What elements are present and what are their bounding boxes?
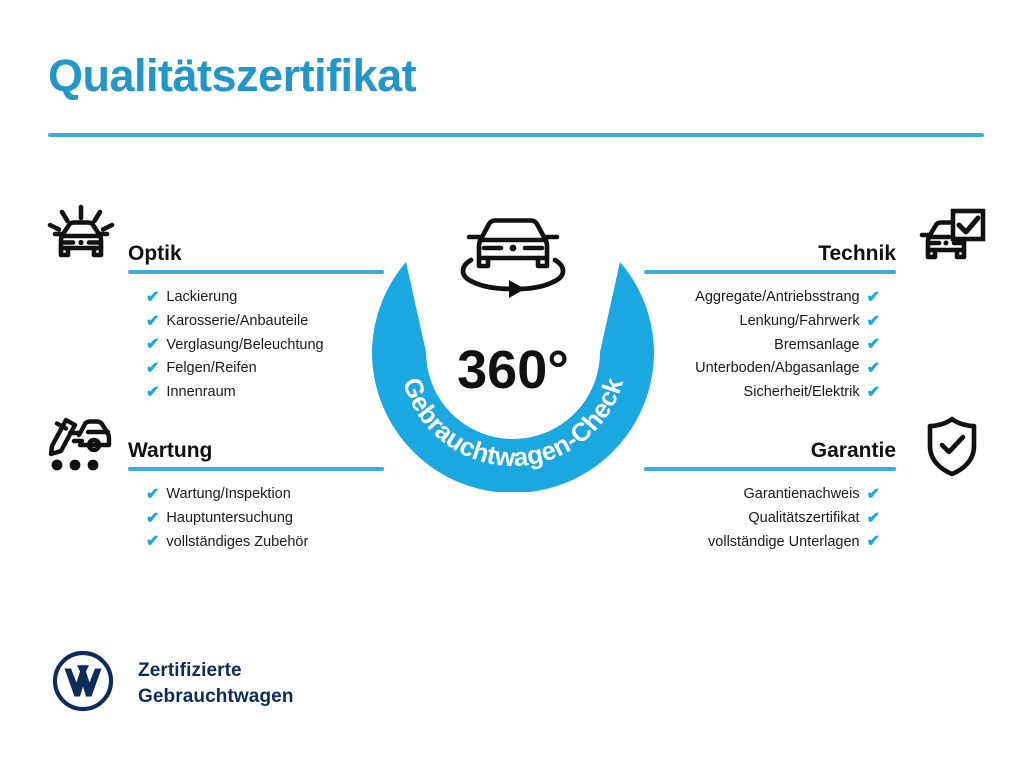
list-item-label: Unterboden/Abgasanlage — [695, 357, 859, 381]
section-header: Garantie — [644, 429, 896, 471]
section-divider — [644, 270, 896, 274]
list-item-label: vollständige Unterlagen — [708, 531, 860, 555]
list-item: ✔Hauptuntersuchung — [128, 507, 384, 531]
list-item-label: Verglasung/Beleuchtung — [166, 334, 323, 358]
check-icon: ✔ — [146, 337, 159, 353]
checklist-wartung: ✔Wartung/Inspektion ✔Hauptuntersuchung ✔… — [128, 483, 384, 554]
checklist-technik: Aggregate/Antriebsstrang✔ Lenkung/Fahrwe… — [644, 286, 896, 405]
check-icon: ✔ — [146, 314, 159, 330]
section-header: Wartung — [128, 429, 384, 471]
certificate-page: Qualitätszertifikat — [0, 0, 1024, 768]
section-title-garantie: Garantie — [811, 439, 896, 463]
list-item: Lenkung/Fahrwerk✔ — [644, 310, 896, 334]
check-icon: ✔ — [867, 290, 880, 306]
list-item: Bremsanlage✔ — [644, 334, 896, 358]
list-item-label: Karosserie/Anbauteile — [166, 310, 308, 334]
list-item-label: Bremsanlage — [774, 334, 859, 358]
check-icon: ✔ — [867, 487, 880, 503]
footer-text: Zertifizierte Gebrauchtwagen — [138, 658, 294, 708]
list-item-label: Wartung/Inspektion — [166, 483, 290, 507]
section-optik: Optik ✔Lackierung ✔Karosserie/Anbauteile… — [128, 232, 384, 405]
list-item: ✔vollständiges Zubehör — [128, 531, 384, 555]
check-icon: ✔ — [867, 385, 880, 401]
check-icon: ✔ — [867, 534, 880, 550]
section-title-technik: Technik — [818, 242, 896, 266]
list-item: ✔Karosserie/Anbauteile — [128, 310, 384, 334]
car-inspection-light-icon — [45, 203, 117, 280]
badge-360-check: Gebrauchtwagen-Check 360° — [372, 192, 654, 492]
check-icon: ✔ — [146, 361, 159, 377]
check-icon: ✔ — [146, 385, 159, 401]
section-divider — [128, 467, 384, 471]
title-divider — [48, 133, 984, 137]
car-service-pencil-icon — [44, 412, 116, 481]
list-item-label: Sicherheit/Elektrik — [744, 381, 860, 405]
check-icon: ✔ — [146, 290, 159, 306]
list-item: ✔Felgen/Reifen — [128, 357, 384, 381]
list-item: ✔Lackierung — [128, 286, 384, 310]
list-item: ✔Innenraum — [128, 381, 384, 405]
list-item-label: Hauptuntersuchung — [166, 507, 293, 531]
section-technik: Technik Aggregate/Antriebsstrang✔ Lenkun… — [644, 232, 896, 405]
list-item-label: Lackierung — [166, 286, 237, 310]
list-item: Qualitätszertifikat✔ — [644, 507, 896, 531]
list-item: Aggregate/Antriebsstrang✔ — [644, 286, 896, 310]
badge-center-label: 360° — [457, 340, 569, 400]
section-wartung: Wartung ✔Wartung/Inspektion ✔Hauptunters… — [128, 429, 384, 554]
footer-branding: Zertifizierte Gebrauchtwagen — [52, 650, 294, 717]
check-icon: ✔ — [867, 314, 880, 330]
rotation-arrow-head — [509, 280, 525, 298]
badge-ring-flare-left — [372, 262, 426, 352]
section-divider — [644, 467, 896, 471]
list-item: Garantienachweis✔ — [644, 483, 896, 507]
page-title: Qualitätszertifikat — [48, 52, 416, 99]
check-icon: ✔ — [867, 361, 880, 377]
section-title-wartung: Wartung — [128, 439, 212, 463]
list-item: ✔Wartung/Inspektion — [128, 483, 384, 507]
car-rotate-360-icon — [463, 221, 563, 299]
shield-check-icon — [924, 415, 980, 484]
list-item-label: vollständiges Zubehör — [166, 531, 308, 555]
volkswagen-logo — [52, 650, 114, 717]
footer-line-1: Zertifizierte — [138, 660, 242, 681]
badge-ring-flare-right — [600, 262, 654, 352]
check-icon: ✔ — [146, 534, 159, 550]
car-checkbox-icon — [916, 208, 986, 275]
check-icon: ✔ — [146, 511, 159, 527]
footer-line-2: Gebrauchtwagen — [138, 686, 294, 707]
section-garantie: Garantie Garantienachweis✔ Qualitätszert… — [644, 429, 896, 554]
section-divider — [128, 270, 384, 274]
check-icon: ✔ — [146, 487, 159, 503]
list-item: Sicherheit/Elektrik✔ — [644, 381, 896, 405]
list-item-label: Innenraum — [166, 381, 235, 405]
list-item-label: Felgen/Reifen — [166, 357, 256, 381]
list-item: Unterboden/Abgasanlage✔ — [644, 357, 896, 381]
section-title-optik: Optik — [128, 242, 182, 266]
list-item-label: Lenkung/Fahrwerk — [740, 310, 860, 334]
check-icon: ✔ — [867, 337, 880, 353]
check-icon: ✔ — [867, 511, 880, 527]
checklist-optik: ✔Lackierung ✔Karosserie/Anbauteile ✔Verg… — [128, 286, 384, 405]
list-item-label: Aggregate/Antriebsstrang — [695, 286, 859, 310]
section-header: Optik — [128, 232, 384, 274]
list-item: ✔Verglasung/Beleuchtung — [128, 334, 384, 358]
checklist-garantie: Garantienachweis✔ Qualitätszertifikat✔ v… — [644, 483, 896, 554]
list-item: vollständige Unterlagen✔ — [644, 531, 896, 555]
section-header: Technik — [644, 232, 896, 274]
list-item-label: Garantienachweis — [744, 483, 860, 507]
list-item-label: Qualitätszertifikat — [748, 507, 859, 531]
